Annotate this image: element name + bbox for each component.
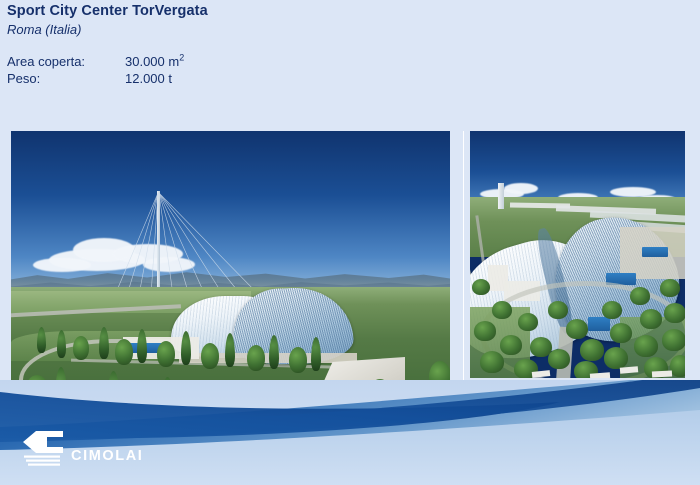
- tree: [640, 309, 662, 329]
- tree: [548, 301, 568, 319]
- pavilion: [590, 372, 610, 378]
- spec-value-weight: 12.000 t: [125, 70, 184, 87]
- spec-value-area: 30.000 m2: [125, 53, 184, 70]
- tree: [604, 347, 628, 369]
- tree: [664, 303, 685, 323]
- tree: [480, 351, 504, 373]
- bridge-cables: [107, 191, 277, 299]
- specifications-table: Area coperta: 30.000 m2 Peso: 12.000 t: [7, 53, 184, 87]
- tree: [602, 301, 622, 319]
- cloud: [504, 183, 538, 194]
- reflecting-pool: [642, 247, 668, 257]
- tree: [662, 329, 685, 351]
- brand-logo: CIMOLAI: [22, 429, 222, 473]
- brand-name: CIMOLAI: [71, 449, 143, 464]
- tree: [500, 335, 522, 355]
- tree: [580, 339, 604, 361]
- spec-label-area: Area coperta:: [7, 53, 125, 70]
- tree: [566, 319, 588, 339]
- page-subtitle: Roma (Italia): [7, 21, 477, 38]
- column-divider: [463, 131, 464, 403]
- tree: [518, 313, 538, 331]
- tree: [610, 323, 632, 343]
- tree: [73, 336, 89, 360]
- header-block: Sport City Center TorVergata Roma (Itali…: [7, 3, 477, 87]
- tree: [492, 301, 512, 319]
- tree: [115, 339, 133, 365]
- cimolai-chevron-mark: [22, 429, 68, 471]
- tree: [201, 343, 219, 369]
- tree: [660, 279, 680, 297]
- tree: [289, 347, 307, 373]
- slide-canvas: Sport City Center TorVergata Roma (Itali…: [0, 0, 700, 485]
- tree: [429, 361, 450, 380]
- spec-value-area-exponent: 2: [179, 53, 184, 63]
- background-tower: [498, 183, 504, 209]
- pavilion: [652, 370, 672, 377]
- cloud: [33, 258, 91, 272]
- tree: [247, 345, 265, 371]
- table-row: Area coperta: 30.000 m2: [7, 53, 184, 70]
- tree: [548, 349, 570, 369]
- page-title: Sport City Center TorVergata: [7, 3, 477, 20]
- tree: [474, 321, 496, 341]
- tree: [630, 287, 650, 305]
- spec-value-area-number: 30.000 m: [125, 54, 179, 69]
- spec-label-weight: Peso:: [7, 70, 125, 87]
- tree: [634, 335, 658, 357]
- sport-city-center-aerial-render: [470, 131, 685, 378]
- tree: [157, 341, 175, 367]
- tree: [670, 355, 685, 377]
- table-row: Peso: 12.000 t: [7, 70, 184, 87]
- tree: [472, 279, 490, 295]
- sport-city-center-ground-level-render: [11, 131, 450, 380]
